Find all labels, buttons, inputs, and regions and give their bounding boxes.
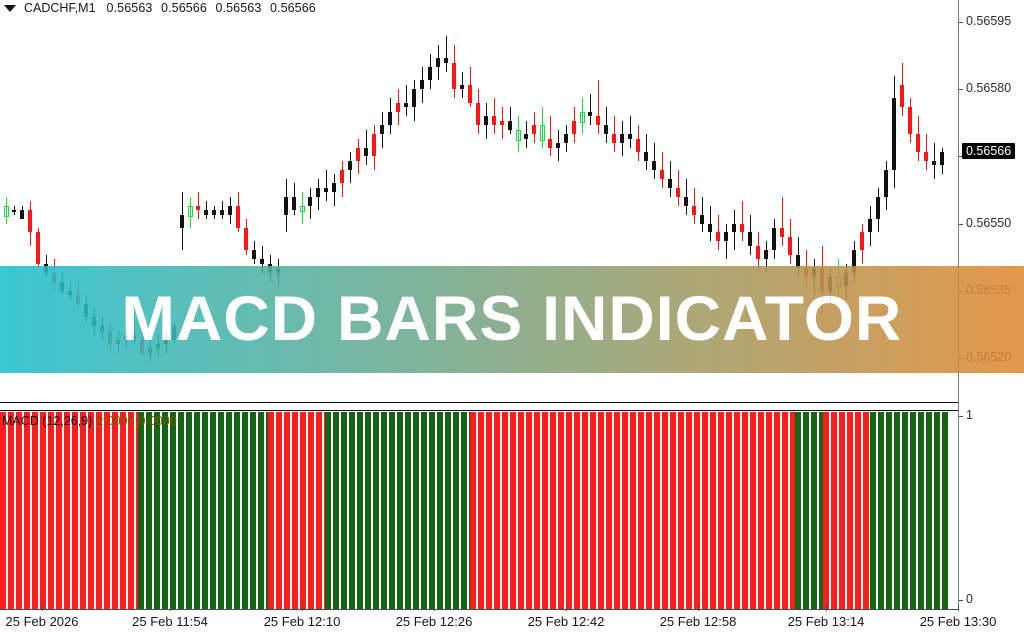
macd-bar xyxy=(742,412,748,610)
macd-bar xyxy=(284,412,290,610)
candle-body xyxy=(924,152,928,161)
time-axis-label: 25 Feb 13:14 xyxy=(788,614,865,629)
ohlc-close: 0.56566 xyxy=(270,1,316,15)
candle-body xyxy=(772,228,776,250)
macd-bar xyxy=(218,412,224,610)
macd-bar xyxy=(154,412,160,610)
candle-body xyxy=(468,85,472,103)
macd-bar xyxy=(373,412,379,610)
candle-body xyxy=(228,206,232,215)
macd-bar xyxy=(847,412,853,610)
macd-bar xyxy=(186,412,192,610)
macd-bar xyxy=(494,412,500,610)
macd-bar xyxy=(341,412,347,610)
macd-bar xyxy=(478,412,484,610)
symbol-label: CADCHF,M1 xyxy=(24,1,96,15)
candle-body xyxy=(788,237,792,255)
macd-bar xyxy=(590,412,596,610)
candle-body xyxy=(676,188,680,197)
candle-wick xyxy=(550,116,551,156)
candle-body xyxy=(732,224,736,233)
candle-body xyxy=(12,210,16,212)
macd-bar xyxy=(550,412,556,610)
candle-body xyxy=(884,170,888,197)
macd-bar xyxy=(333,412,339,610)
macd-bar xyxy=(397,412,403,610)
macd-bar xyxy=(194,412,200,610)
candle-body xyxy=(724,232,728,241)
candle-body xyxy=(876,197,880,219)
candle-body xyxy=(588,112,592,116)
candle-body xyxy=(28,210,32,232)
candle-body xyxy=(252,250,256,259)
macd-bar xyxy=(902,412,908,610)
price-axis-label: 0.56580 xyxy=(966,81,1011,95)
macd-bar xyxy=(622,412,628,610)
macd-bar xyxy=(8,412,14,610)
pane-separator xyxy=(0,402,958,403)
candle-body xyxy=(236,206,240,228)
macd-bar xyxy=(670,412,676,610)
macd-bar xyxy=(811,412,817,610)
candle-body xyxy=(652,161,656,170)
candle-body xyxy=(388,112,392,125)
candle-body xyxy=(644,152,648,161)
macd-indicator-pane[interactable] xyxy=(0,404,958,610)
time-axis-label: 25 Feb 11:54 xyxy=(132,614,208,629)
macd-bar xyxy=(461,412,467,610)
candle-body xyxy=(692,206,696,215)
time-axis-label: 25 Feb 13:30 xyxy=(920,614,997,629)
macd-bar xyxy=(823,412,829,610)
candle-body xyxy=(700,215,704,224)
candle-body xyxy=(892,98,896,170)
candle-body xyxy=(508,121,512,130)
macd-bar xyxy=(437,412,443,610)
candle-body xyxy=(668,179,672,188)
macd-bar xyxy=(112,412,118,610)
macd-bar xyxy=(445,412,451,610)
macd-bar xyxy=(56,412,62,610)
macd-bar xyxy=(678,412,684,610)
price-tick xyxy=(959,22,963,23)
candle-body xyxy=(196,206,200,210)
macd-bar xyxy=(702,412,708,610)
candle-body xyxy=(916,134,920,152)
time-tick xyxy=(958,605,959,611)
macd-bar xyxy=(694,412,700,610)
macd-bar xyxy=(250,412,256,610)
macd-bar xyxy=(421,412,427,610)
macd-legend-name: MACD (12,26,9) xyxy=(2,414,92,428)
macd-bar xyxy=(542,412,548,610)
candle-body xyxy=(364,148,368,157)
price-axis-label: 0.56550 xyxy=(966,216,1011,230)
ohlc-high: 0.56566 xyxy=(161,1,207,15)
candle-body xyxy=(324,188,328,192)
candle-body xyxy=(300,206,305,212)
macd-bar xyxy=(308,412,314,610)
macd-bar xyxy=(170,412,176,610)
macd-bar xyxy=(234,412,240,610)
price-axis-label: 0.56595 xyxy=(966,14,1011,28)
macd-bar xyxy=(606,412,612,610)
time-tick xyxy=(170,605,171,611)
candle-body xyxy=(340,170,344,183)
candle-body xyxy=(292,197,296,210)
macd-bar xyxy=(894,412,900,610)
macd-value-2: 0.0000 xyxy=(139,414,177,428)
macd-bar xyxy=(146,412,152,610)
macd-bar xyxy=(582,412,588,610)
macd-bar xyxy=(534,412,540,610)
candle-wick xyxy=(590,94,591,125)
time-axis-labels: 25 Feb 202625 Feb 11:5425 Feb 12:1025 Fe… xyxy=(0,612,1024,640)
macd-bar xyxy=(276,412,282,610)
candle-body xyxy=(412,89,416,107)
candle-body xyxy=(316,188,320,197)
candle-body xyxy=(596,116,600,125)
macd-bar xyxy=(686,412,692,610)
time-tick xyxy=(826,605,827,611)
macd-bar xyxy=(803,412,809,610)
macd-bar xyxy=(128,412,134,610)
macd-bar xyxy=(258,412,264,610)
candle-body xyxy=(380,125,384,134)
macd-bar xyxy=(96,412,102,610)
macd-bar xyxy=(268,412,274,610)
candle-body xyxy=(220,210,224,214)
candle-body xyxy=(556,143,560,147)
promo-banner: MACD BARS INDICATOR xyxy=(0,266,1024,373)
candle-body xyxy=(636,139,640,152)
candle-body xyxy=(356,148,360,161)
macd-bar xyxy=(839,412,845,610)
candle-body xyxy=(604,125,608,134)
candle-body xyxy=(484,116,488,125)
candle-body xyxy=(900,85,904,107)
candle-body xyxy=(540,125,545,140)
macd-bar xyxy=(405,412,411,610)
candle-body xyxy=(396,103,400,112)
macd-bar xyxy=(510,412,516,610)
candle-body xyxy=(748,232,752,245)
macd-bar xyxy=(72,412,78,610)
time-tick xyxy=(434,605,435,611)
macd-bar xyxy=(381,412,387,610)
macd-bar xyxy=(365,412,371,610)
macd-bar xyxy=(48,412,54,610)
macd-bar xyxy=(918,412,924,610)
candle-wick xyxy=(782,197,783,246)
candle-body xyxy=(572,121,576,134)
macd-bar xyxy=(774,412,780,610)
macd-bar xyxy=(782,412,788,610)
candle-body xyxy=(436,58,440,67)
macd-bar xyxy=(598,412,604,610)
macd-bar xyxy=(349,412,355,610)
macd-bar xyxy=(138,412,144,610)
time-tick xyxy=(698,605,699,611)
macd-bar xyxy=(178,412,184,610)
candle-body xyxy=(204,210,208,214)
macd-bar xyxy=(292,412,298,610)
macd-bar xyxy=(40,412,46,610)
candle-body xyxy=(36,232,40,263)
candle-body xyxy=(188,206,193,217)
macd-bar xyxy=(558,412,564,610)
macd-bar xyxy=(357,412,363,610)
macd-bar xyxy=(831,412,837,610)
ohlc-values: 0.56563 0.56566 0.56563 0.56566 xyxy=(102,1,316,15)
candle-body xyxy=(620,134,624,143)
promo-banner-text: MACD BARS INDICATOR xyxy=(122,288,903,351)
macd-bar xyxy=(734,412,740,610)
candle-body xyxy=(420,80,424,89)
macd-axis-labels: 10 xyxy=(959,404,1024,610)
candle-body xyxy=(532,125,536,134)
macd-bar xyxy=(470,412,476,610)
candle-body xyxy=(548,139,552,148)
candle-body xyxy=(524,134,528,138)
macd-bar xyxy=(0,412,6,610)
candle-body xyxy=(660,170,664,179)
candle-body xyxy=(612,134,616,143)
macd-axis-label: 1 xyxy=(966,408,973,422)
macd-bar xyxy=(429,412,435,610)
candle-body xyxy=(628,134,632,138)
candle-body xyxy=(372,134,376,156)
macd-bar xyxy=(646,412,652,610)
macd-tick xyxy=(959,600,963,601)
candle-body xyxy=(428,67,432,80)
candle-body xyxy=(516,130,521,141)
candle-body xyxy=(284,197,288,215)
candle-body xyxy=(180,215,184,228)
time-tick xyxy=(302,605,303,611)
candle-wick xyxy=(406,85,407,116)
candle-body xyxy=(564,134,568,143)
macd-bar xyxy=(934,412,940,610)
candle-body xyxy=(452,63,456,90)
macd-legend: MACD (12,26,9)2.00000.0000 xyxy=(2,414,177,428)
candle-body xyxy=(780,228,784,237)
time-axis-line xyxy=(0,609,959,610)
candle-wick xyxy=(742,201,743,241)
candle-body xyxy=(404,103,408,107)
candle-body xyxy=(348,161,352,170)
macd-bar xyxy=(863,412,869,610)
time-axis-label: 25 Feb 12:42 xyxy=(528,614,605,629)
candle-body xyxy=(756,246,760,259)
macd-bar xyxy=(300,412,306,610)
macd-bar xyxy=(389,412,395,610)
candle-body xyxy=(500,121,504,125)
macd-bar xyxy=(855,412,861,610)
macd-bar xyxy=(886,412,892,610)
macd-bar xyxy=(518,412,524,610)
candle-body xyxy=(860,232,864,250)
candle-body xyxy=(212,210,216,214)
candle-body xyxy=(868,219,872,232)
macd-bar xyxy=(64,412,70,610)
macd-value-1: 2.0000 xyxy=(96,414,134,428)
macd-tick xyxy=(959,416,963,417)
candle-body xyxy=(716,232,720,241)
candle-body xyxy=(908,107,912,134)
time-tick xyxy=(42,605,43,611)
candle-body xyxy=(244,228,248,250)
current-price-badge: 0.56566 xyxy=(962,143,1015,159)
candle-body xyxy=(764,250,768,259)
time-axis-label: 25 Feb 2026 xyxy=(5,614,78,629)
macd-bar xyxy=(795,412,801,610)
macd-bar xyxy=(486,412,492,610)
triangle-down-icon[interactable] xyxy=(4,5,16,12)
macd-bar xyxy=(662,412,668,610)
macd-bar xyxy=(942,412,948,610)
macd-bar xyxy=(162,412,168,610)
candle-body xyxy=(708,224,712,233)
macd-bar xyxy=(413,412,419,610)
candle-body xyxy=(4,206,9,217)
macd-bar xyxy=(654,412,660,610)
ohlc-low: 0.56563 xyxy=(215,1,261,15)
macd-bar xyxy=(120,412,126,610)
candle-body xyxy=(580,112,585,123)
macd-top-border xyxy=(0,410,958,411)
candle-body xyxy=(476,103,480,125)
candle-body xyxy=(940,152,944,165)
macd-bar xyxy=(566,412,572,610)
macd-axis-label: 0 xyxy=(966,592,973,606)
candle-body xyxy=(260,259,264,263)
macd-bar xyxy=(766,412,772,610)
candle-body xyxy=(20,210,24,219)
macd-bar xyxy=(878,412,884,610)
ohlc-open: 0.56563 xyxy=(107,1,153,15)
candle-body xyxy=(444,58,448,62)
candle-body xyxy=(684,197,688,206)
macd-bar xyxy=(16,412,22,610)
macd-bar xyxy=(710,412,716,610)
macd-bar xyxy=(574,412,580,610)
macd-bar xyxy=(316,412,322,610)
macd-bar xyxy=(926,412,932,610)
macd-bar xyxy=(32,412,38,610)
macd-bar xyxy=(453,412,459,610)
candle-body xyxy=(332,183,336,192)
macd-bar xyxy=(630,412,636,610)
macd-bar xyxy=(24,412,30,610)
price-tick xyxy=(959,224,963,225)
macd-bar xyxy=(104,412,110,610)
macd-bar xyxy=(870,412,876,610)
symbol-header: CADCHF,M1 0.56563 0.56566 0.56563 0.5656… xyxy=(0,0,316,16)
macd-bar xyxy=(242,412,248,610)
candle-body xyxy=(740,224,744,233)
candle-body xyxy=(308,197,312,206)
candle-body xyxy=(932,161,936,165)
macd-bar xyxy=(638,412,644,610)
candle-wick xyxy=(598,80,599,134)
macd-bar xyxy=(80,412,86,610)
candle-body xyxy=(460,85,464,89)
macd-bar xyxy=(750,412,756,610)
price-tick xyxy=(959,89,963,90)
time-axis-label: 25 Feb 12:58 xyxy=(660,614,737,629)
time-axis-label: 25 Feb 12:10 xyxy=(264,614,341,629)
macd-bar xyxy=(502,412,508,610)
macd-bar xyxy=(726,412,732,610)
mt4-chart-window: CADCHF,M1 0.56563 0.56566 0.56563 0.5656… xyxy=(0,0,1024,640)
macd-bar xyxy=(758,412,764,610)
macd-bar xyxy=(718,412,724,610)
macd-bar xyxy=(910,412,916,610)
macd-bar xyxy=(88,412,94,610)
time-tick xyxy=(566,605,567,611)
macd-bar xyxy=(526,412,532,610)
candle-wick xyxy=(630,116,631,147)
macd-bar xyxy=(226,412,232,610)
candle-wick xyxy=(446,36,447,72)
macd-bar xyxy=(614,412,620,610)
candle-body xyxy=(492,116,496,125)
time-axis-label: 25 Feb 12:26 xyxy=(396,614,473,629)
macd-bar xyxy=(210,412,216,610)
macd-bar xyxy=(325,412,331,610)
candle-wick xyxy=(326,170,327,201)
macd-bar xyxy=(202,412,208,610)
